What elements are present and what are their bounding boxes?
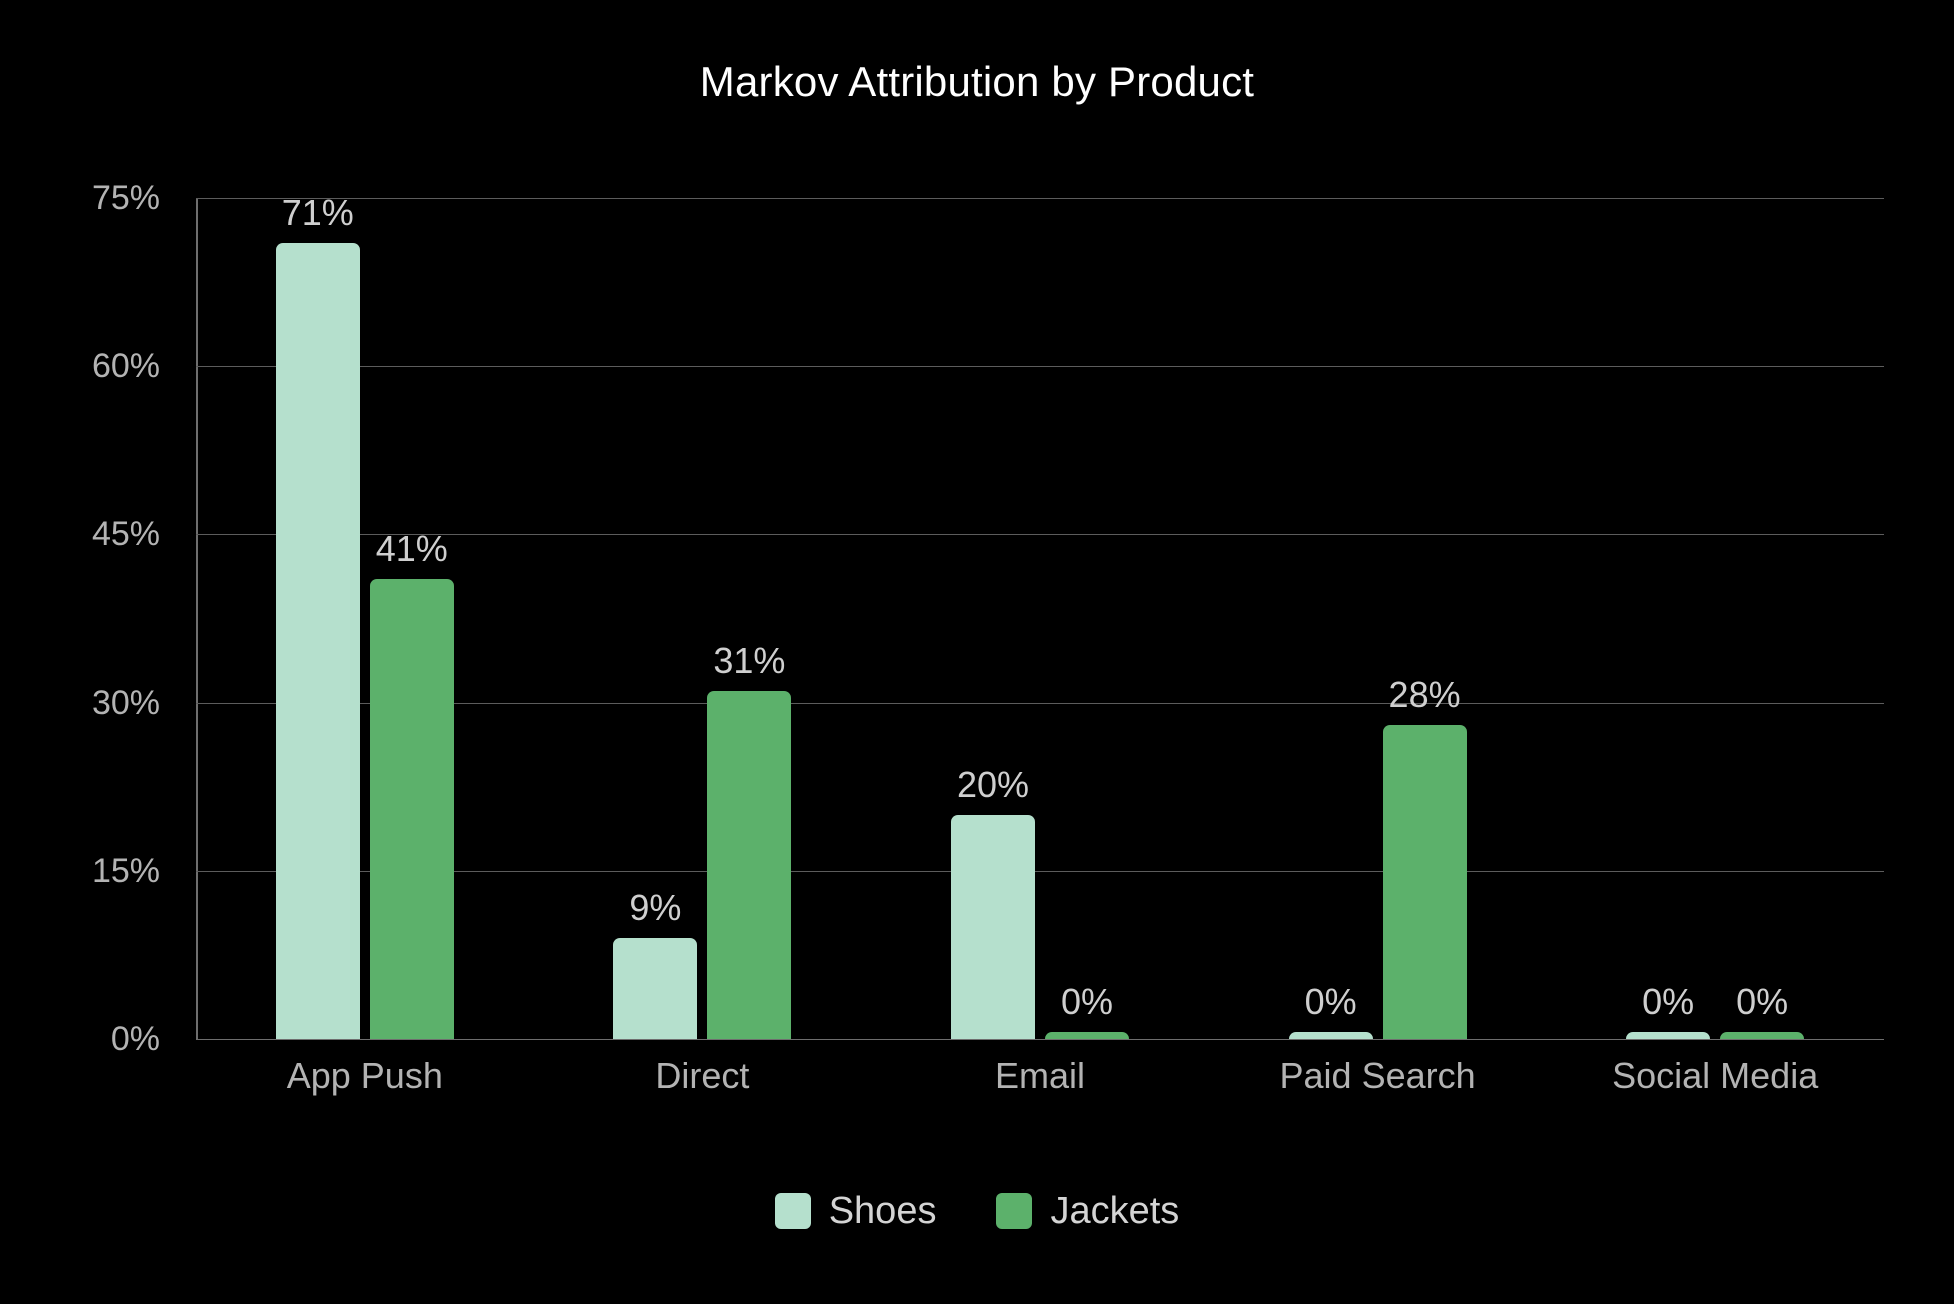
bar[interactable]	[613, 938, 697, 1039]
legend-swatch-icon	[775, 1193, 811, 1229]
bar-group: 9%31%	[534, 198, 872, 1039]
bar-jackets-social-media[interactable]: 0%	[1720, 198, 1804, 1039]
bar[interactable]	[1383, 725, 1467, 1039]
bar-shoes-app-push[interactable]: 71%	[276, 198, 360, 1039]
bar-jackets-app-push[interactable]: 41%	[370, 198, 454, 1039]
bar-value-label: 0%	[1061, 984, 1113, 1020]
bar-jackets-paid-search[interactable]: 28%	[1383, 198, 1467, 1039]
bar-value-label: 71%	[282, 195, 354, 231]
x-axis-tick: App Push	[196, 1055, 534, 1097]
plot-area: 71%41%9%31%20%0%0%28%0%0%	[196, 198, 1884, 1039]
chart-legend: ShoesJackets	[0, 1192, 1954, 1230]
bar-value-label: 0%	[1736, 984, 1788, 1020]
y-axis-tick: 45%	[20, 517, 160, 551]
y-axis-tick: 15%	[20, 854, 160, 888]
y-axis-tick: 75%	[20, 181, 160, 215]
chart-canvas: Markov Attribution by Product 75%60%45%3…	[0, 0, 1954, 1304]
legend-item-jackets[interactable]: Jackets	[996, 1192, 1179, 1230]
bar[interactable]	[1045, 1032, 1129, 1039]
bar[interactable]	[1626, 1032, 1710, 1039]
x-axis-tick: Paid Search	[1209, 1055, 1547, 1097]
legend-label: Jackets	[1050, 1192, 1179, 1230]
legend-swatch-icon	[996, 1193, 1032, 1229]
bar-shoes-email[interactable]: 20%	[951, 198, 1035, 1039]
bar[interactable]	[707, 691, 791, 1039]
bar-shoes-social-media[interactable]: 0%	[1626, 198, 1710, 1039]
bar[interactable]	[276, 243, 360, 1039]
x-axis-tick: Direct	[534, 1055, 872, 1097]
legend-item-shoes[interactable]: Shoes	[775, 1192, 937, 1230]
bar[interactable]	[951, 815, 1035, 1039]
bar-value-label: 0%	[1305, 984, 1357, 1020]
bar[interactable]	[1289, 1032, 1373, 1039]
bar-group: 0%0%	[1546, 198, 1884, 1039]
bar-value-label: 31%	[713, 643, 785, 679]
bar-value-label: 41%	[376, 531, 448, 567]
y-axis-tick: 0%	[20, 1022, 160, 1056]
bar-value-label: 9%	[629, 890, 681, 926]
bar-group: 71%41%	[196, 198, 534, 1039]
x-axis-tick: Email	[871, 1055, 1209, 1097]
x-axis-tick: Social Media	[1546, 1055, 1884, 1097]
bar-jackets-email[interactable]: 0%	[1045, 198, 1129, 1039]
bar-group: 20%0%	[871, 198, 1209, 1039]
bar-shoes-paid-search[interactable]: 0%	[1289, 198, 1373, 1039]
legend-label: Shoes	[829, 1192, 937, 1230]
gridline	[196, 1039, 1884, 1040]
bar-value-label: 20%	[957, 767, 1029, 803]
bar-jackets-direct[interactable]: 31%	[707, 198, 791, 1039]
bar[interactable]	[1720, 1032, 1804, 1039]
chart-title: Markov Attribution by Product	[0, 58, 1954, 106]
y-axis-tick: 60%	[20, 349, 160, 383]
x-axis-tick-labels: App PushDirectEmailPaid SearchSocial Med…	[196, 1055, 1884, 1097]
y-axis-tick: 30%	[20, 686, 160, 720]
bar-groups: 71%41%9%31%20%0%0%28%0%0%	[196, 198, 1884, 1039]
bar-value-label: 28%	[1389, 677, 1461, 713]
bar-group: 0%28%	[1209, 198, 1547, 1039]
bar-value-label: 0%	[1642, 984, 1694, 1020]
bar-shoes-direct[interactable]: 9%	[613, 198, 697, 1039]
bar[interactable]	[370, 579, 454, 1039]
